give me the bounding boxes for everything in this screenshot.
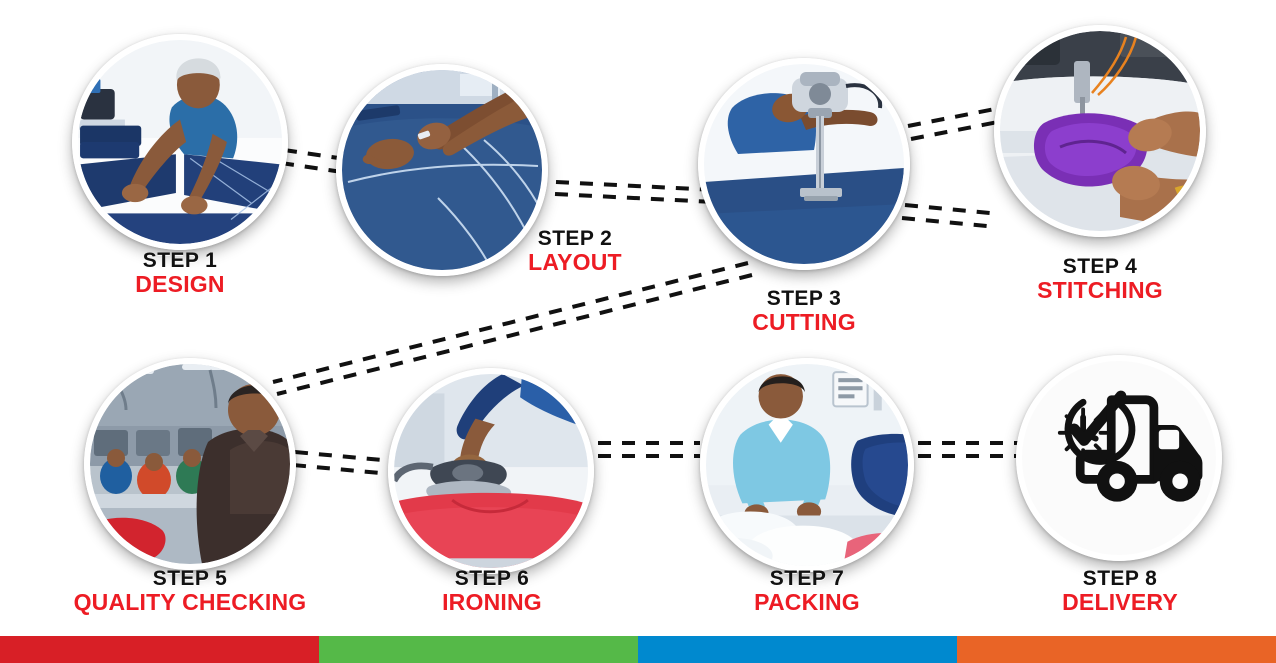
color-segment-blue [638,636,957,663]
connector-7-8 [918,443,1018,456]
step-node-8[interactable] [1016,355,1222,561]
photo-quality-checking [90,364,290,564]
step-name-label: DESIGN [60,273,300,297]
connector-2-3 [555,182,716,202]
step-node-1[interactable] [72,34,288,250]
step-name-label: DELIVERY [1010,591,1230,615]
step-caption-2: STEP 2 LAYOUT [465,228,685,275]
delivery-truck-clock-icon [1022,361,1216,555]
step-caption-4: STEP 4 STITCHING [990,256,1210,303]
connector-3-4 [908,108,1003,139]
step-number-label: STEP 6 [382,568,602,590]
connector-5-6 [293,452,382,473]
step-node-4[interactable] [994,25,1206,237]
step-name-label: QUALITY CHECKING [70,591,310,615]
step-node-6[interactable] [388,368,594,574]
step-caption-3: STEP 3 CUTTING [694,288,914,335]
step-name-label: LAYOUT [465,251,685,275]
step-number-label: STEP 7 [697,568,917,590]
photo-cutting [704,64,904,264]
photo-design [78,40,282,244]
step-node-5[interactable] [84,358,296,570]
step-name-label: CUTTING [694,311,914,335]
infographic-canvas: STEP 1 DESIGN [0,0,1276,663]
color-segment-green [319,636,638,663]
step-caption-5: STEP 5 QUALITY CHECKING [70,568,310,615]
step-number-label: STEP 4 [990,256,1210,278]
step-number-label: STEP 8 [1010,568,1230,590]
color-segment-red [0,636,319,663]
step-name-label: STITCHING [990,279,1210,303]
step-caption-8: STEP 8 DELIVERY [1010,568,1230,615]
step-name-label: PACKING [697,591,917,615]
step-number-label: STEP 1 [60,250,300,272]
step-caption-7: STEP 7 PACKING [697,568,917,615]
step-caption-1: STEP 1 DESIGN [60,250,300,297]
step-caption-6: STEP 6 IRONING [382,568,602,615]
step-number-label: STEP 2 [465,228,685,250]
color-segment-orange [957,636,1276,663]
step-node-7[interactable] [700,358,914,572]
step-name-label: IRONING [382,591,602,615]
footer-color-bar [0,636,1276,663]
photo-packing [706,364,908,566]
connector-6-7 [598,443,700,456]
step-number-label: STEP 5 [70,568,310,590]
step-node-3[interactable] [698,58,910,270]
connector-4-down [902,205,1000,227]
step-number-label: STEP 3 [694,288,914,310]
photo-ironing [394,374,588,568]
photo-stitching [1000,31,1200,231]
